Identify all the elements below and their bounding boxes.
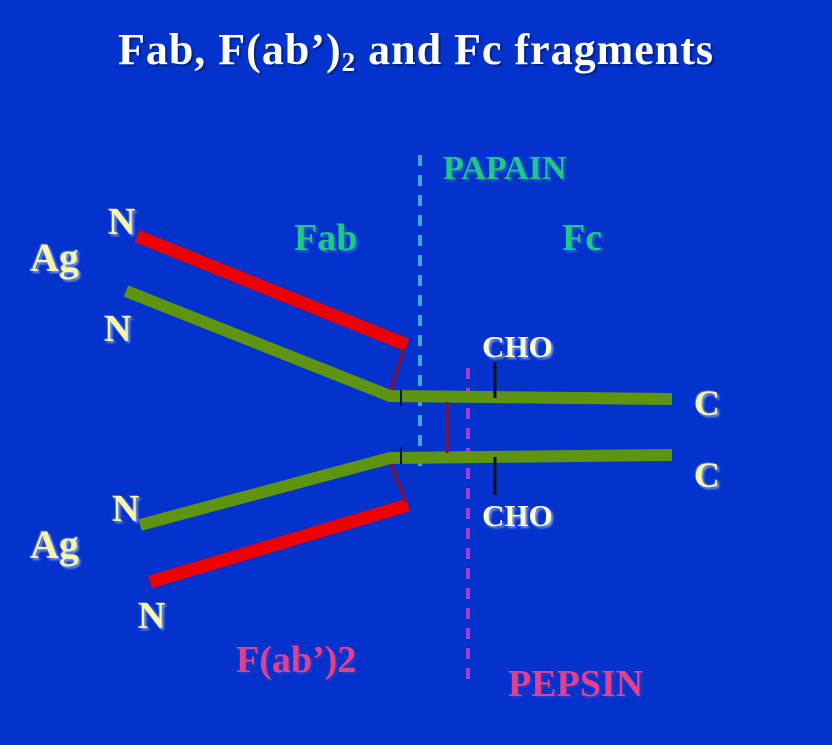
title-main-text: Fab, F(ab’) (118, 25, 342, 74)
label-fc-region: Fc (562, 219, 602, 257)
label-c-terminus-lower: C (694, 457, 720, 493)
label-fab-prime-2-region: F(ab’)2 (236, 641, 356, 679)
label-fab-region: Fab (294, 219, 357, 257)
title-subscript: 2 (342, 47, 357, 77)
label-cho-upper: CHO (482, 331, 553, 362)
label-n-terminus-upper-heavy: N (104, 310, 131, 348)
label-n-terminus-upper-light: N (108, 203, 135, 241)
label-cho-lower: CHO (482, 500, 553, 531)
page-title: Fab, F(ab’)2 and Fc fragments (0, 28, 832, 72)
antibody-diagram (0, 0, 832, 745)
light-chain-upper (137, 236, 407, 345)
heavy-chain-lower (140, 455, 672, 525)
title-tail-text: and Fc fragments (356, 25, 714, 74)
label-c-terminus-upper: C (694, 385, 720, 421)
label-antigen-bottom: Ag (30, 525, 79, 565)
label-antigen-top: Ag (30, 238, 79, 278)
label-n-terminus-lower-light: N (138, 597, 165, 635)
label-papain-enzyme: PAPAIN (443, 152, 566, 186)
label-n-terminus-lower-heavy: N (112, 490, 139, 528)
slide-canvas: Fab, F(ab’)2 and Fc fragments Ag Ag N N … (0, 0, 832, 745)
label-pepsin-enzyme: PEPSIN (508, 665, 643, 703)
